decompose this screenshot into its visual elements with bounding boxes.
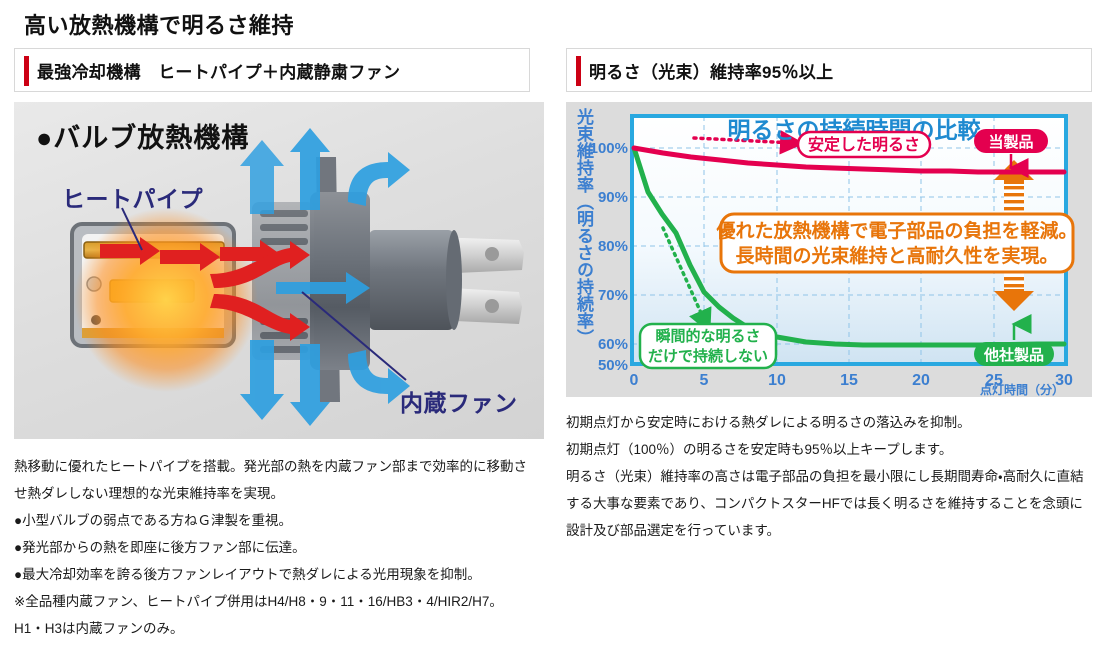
right-section-header: 明るさ（光束）維持率95％以上 [566, 48, 1092, 92]
x-tick-20: 20 [912, 372, 930, 389]
right-section-header-label: 明るさ（光束）維持率95％以上 [589, 58, 833, 83]
svg-text:当製品: 当製品 [988, 133, 1033, 151]
left-body-copy: 熱移動に優れたヒートパイプを搭載。発光部の熱を内蔵ファン部まで効率的に移動させ熱… [14, 453, 530, 642]
annotation-heat-benefit-callout: 優れた放熱機構で電子部品の負担を軽減。 長時間の光束維持と高耐久性を実現。 [715, 214, 1077, 272]
built-in-fan-label: 内蔵ファン [400, 384, 518, 418]
svg-text:優れた放熱機構で電子部品の負担を軽減。: 優れた放熱機構で電子部品の負担を軽減。 [715, 219, 1077, 242]
x-tick-15: 15 [840, 372, 858, 389]
left-paragraph-1: 熱移動に優れたヒートパイプを搭載。発光部の熱を内蔵ファン部まで効率的に移動させ熱… [14, 453, 530, 507]
y-tick-100: 100% [590, 140, 628, 157]
page-title: 高い放熱機構で明るさ維持 [24, 8, 294, 40]
right-paragraph-2: 初期点灯（100％）の明るさを安定時も95％以上キープします。 [566, 436, 1092, 463]
x-tick-10: 10 [768, 372, 786, 389]
svg-text:だけで持続しない: だけで持続しない [648, 347, 768, 365]
left-paragraph-4: ●最大冷却効率を誇る後方ファンレイアウトで熱ダレによる光用現象を抑制。 [14, 561, 530, 588]
figure-title: ●バルブ放熱機構 [36, 116, 249, 155]
left-paragraph-5: ※全品種内蔵ファン、ヒートパイプ併用はH4/H8・9・11・16/HB3・4/H… [14, 588, 530, 642]
left-paragraph-3: ●発光部からの熱を即座に後方ファン部に伝達。 [14, 534, 530, 561]
heat-pipe-label: ヒートパイプ [62, 180, 203, 214]
y-tick-70: 70% [598, 287, 628, 304]
y-tick-90: 90% [598, 189, 628, 206]
left-section-header: 最強冷却機構 ヒートパイプ＋内蔵静粛ファン [14, 48, 530, 92]
y-tick-50: 50% [598, 357, 628, 374]
x-tick-5: 5 [700, 372, 709, 389]
right-paragraph-1: 初期点灯から安定時における熱ダレによる明るさの落込みを抑制。 [566, 409, 1092, 436]
product-spec-page: 高い放熱機構で明るさ維持 最強冷却機構 ヒートパイプ＋内蔵静粛ファン [0, 0, 1106, 658]
annotation-stable-brightness: 安定した明るさ [798, 132, 930, 157]
right-column: 明るさ（光束）維持率95％以上 光束維持率（明るさの持続率） [566, 48, 1092, 544]
y-tick-60: 60% [598, 336, 628, 353]
svg-text:長時間の光束維持と高耐久性を実現。: 長時間の光束維持と高耐久性を実現。 [735, 244, 1058, 267]
svg-text:他社製品: 他社製品 [983, 346, 1044, 364]
brightness-retention-chart: 光束維持率（明るさの持続率） [566, 102, 1092, 397]
svg-text:瞬間的な明るさ: 瞬間的な明るさ [655, 327, 760, 345]
right-body-copy: 初期点灯から安定時における熱ダレによる明るさの落込みを抑制。 初期点灯（100％… [566, 409, 1092, 544]
left-column: 最強冷却機構 ヒートパイプ＋内蔵静粛ファン [14, 48, 530, 642]
left-section-header-label: 最強冷却機構 ヒートパイプ＋内蔵静粛ファン [37, 58, 400, 83]
y-tick-80: 80% [598, 238, 628, 255]
x-tick-0: 0 [630, 372, 639, 389]
right-paragraph-3: 明るさ（光束）維持率の高さは電子部品の負担を最小限にし長期間寿命・高耐久に直結す… [566, 463, 1092, 544]
chart-x-axis-label: 点灯時間（分） [980, 382, 1064, 397]
bulb-heat-dissipation-figure: ●バルブ放熱機構 ヒートパイプ 内蔵ファン [14, 102, 544, 439]
left-paragraph-2: ●小型バルブの弱点である方ねＧ津製を重視。 [14, 507, 530, 534]
annotation-not-sustained: 瞬間的な明るさ だけで持続しない [640, 324, 776, 368]
chart-svg: 100% 90% 80% 70% 60% 50% 0 5 10 15 20 25… [566, 102, 1092, 397]
svg-text:安定した明るさ: 安定した明るさ [808, 135, 920, 154]
